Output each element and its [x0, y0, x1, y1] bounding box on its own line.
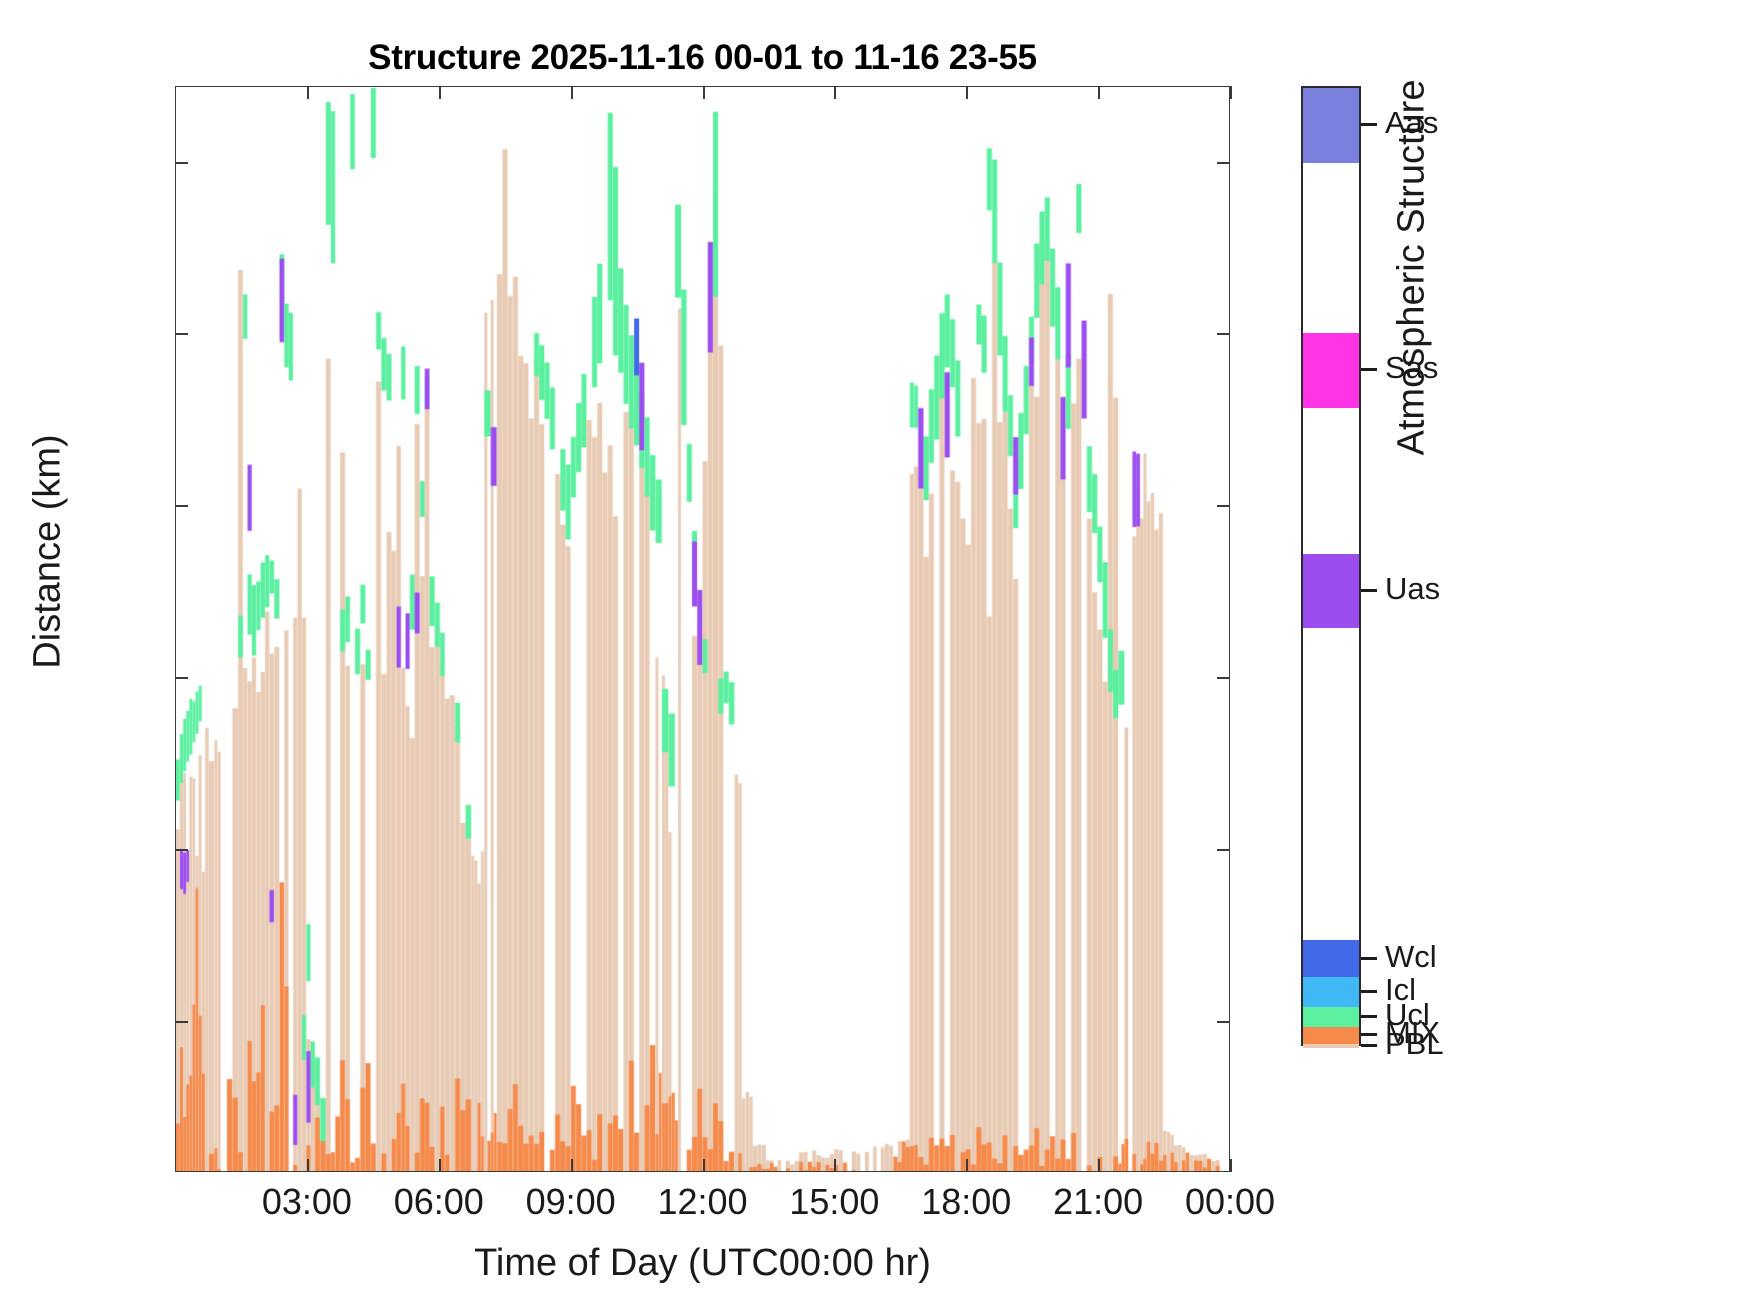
colorbar-gradient	[1301, 86, 1361, 1046]
colorbar-tick-sas	[1361, 368, 1377, 371]
y-tick-mark	[1217, 162, 1230, 164]
y-tick-mark	[1217, 1021, 1230, 1023]
y-tick-mark	[1217, 677, 1230, 679]
colorbar-segment-ucl	[1303, 1007, 1359, 1027]
y-tick-mark	[175, 505, 188, 507]
x-tick-mark	[1098, 86, 1100, 99]
page-title: Structure 2025-11-16 00-01 to 11-16 23-5…	[175, 38, 1230, 78]
x-axis-title: Time of Day (UTC00:00 hr)	[175, 1242, 1230, 1285]
x-tick-label: 00:00	[1130, 1181, 1330, 1223]
x-tick-mark	[439, 86, 441, 99]
figure-root: Structure 2025-11-16 00-01 to 11-16 23-5…	[0, 0, 1750, 1313]
colorbar-tick-pbl	[1361, 1044, 1377, 1047]
colorbar-label-wcl: Wcl	[1385, 939, 1437, 975]
x-tick-mark	[1230, 86, 1232, 99]
plot-area	[175, 86, 1230, 1172]
y-axis-title: Distance (km)	[27, 272, 70, 832]
x-tick-mark	[966, 86, 968, 99]
colorbar-tick-mix	[1361, 1033, 1377, 1036]
x-tick-mark	[307, 86, 309, 99]
y-tick-mark	[1217, 849, 1230, 851]
colorbar: AasSasUasWclIclUclMIXPBL	[1301, 86, 1361, 1046]
x-tick-mark	[834, 1159, 836, 1172]
y-tick-mark	[175, 677, 188, 679]
colorbar-segment-mix	[1303, 1027, 1359, 1044]
y-tick-mark	[175, 333, 188, 335]
x-tick-mark	[1098, 1159, 1100, 1172]
colorbar-segment-wcl	[1303, 940, 1359, 976]
x-tick-mark	[703, 86, 705, 99]
x-tick-mark	[571, 1159, 573, 1172]
colorbar-tick-icl	[1361, 990, 1377, 993]
structure-timeseries-canvas	[176, 87, 1229, 1171]
colorbar-tick-uas	[1361, 589, 1377, 592]
x-tick-mark	[439, 1159, 441, 1172]
colorbar-tick-aas	[1361, 123, 1377, 126]
y-tick-mark	[175, 162, 188, 164]
x-tick-mark	[1230, 1159, 1232, 1172]
y-tick-mark	[175, 1021, 188, 1023]
colorbar-label-pbl: PBL	[1385, 1026, 1444, 1062]
y-tick-mark	[175, 849, 188, 851]
colorbar-segment-uas	[1303, 554, 1359, 629]
x-tick-mark	[703, 1159, 705, 1172]
x-tick-mark	[966, 1159, 968, 1172]
x-tick-mark	[307, 1159, 309, 1172]
y-tick-mark	[1217, 505, 1230, 507]
colorbar-segment-sas	[1303, 333, 1359, 408]
colorbar-tick-ucl	[1361, 1015, 1377, 1018]
x-tick-mark	[834, 86, 836, 99]
colorbar-segment-icl	[1303, 977, 1359, 1007]
colorbar-segment-aas	[1303, 88, 1359, 163]
colorbar-segment-pbl	[1303, 1044, 1359, 1048]
y-tick-mark	[1217, 333, 1230, 335]
x-tick-mark	[571, 86, 573, 99]
colorbar-title: Atmospheric Structure	[1391, 0, 1434, 588]
colorbar-tick-wcl	[1361, 957, 1377, 960]
